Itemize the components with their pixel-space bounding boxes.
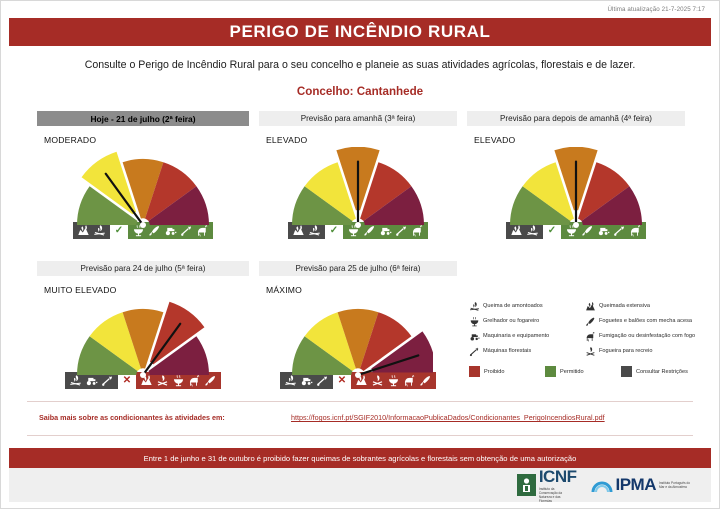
legend-item-fogueira-recreio-icon: Fogueira para recreio xyxy=(585,346,697,357)
icnf-mark-icon xyxy=(517,474,536,496)
legend-label: Queima de amontoados xyxy=(483,303,543,309)
gauge-wrap-tomorrow xyxy=(259,147,457,219)
footer-logos: ICNF Instituto da Conservação da Naturez… xyxy=(9,468,711,502)
danger-level-jul24: MUITO ELEVADO xyxy=(44,285,249,295)
forecast-panel-header-day-after[interactable]: Previsão para depois de amanhã (4ª feira… xyxy=(467,111,685,126)
legend-status-2: Consultar Restrições xyxy=(621,366,697,377)
forecast-panel-header-today[interactable]: Hoje - 21 de julho (2ª feira) xyxy=(37,111,249,126)
legend-item-queima-amontoados-icon: Queima de amontoados xyxy=(469,301,581,312)
legend-status-0: Proibido xyxy=(469,366,545,377)
queimada-extensiva-icon xyxy=(585,301,596,312)
legend-item-queimada-extensiva-icon: Queimada extensiva xyxy=(585,301,697,312)
forecast-panel-day-after[interactable]: Previsão para depois de amanhã (4ª feira… xyxy=(467,111,685,239)
maquinaria-icon xyxy=(469,331,480,342)
danger-level-day-after: ELEVADO xyxy=(474,135,685,145)
forecast-panel-header-jul24[interactable]: Previsão para 24 de julho (5ª feira) xyxy=(37,261,249,276)
legend-label: Queimada extensiva xyxy=(599,303,650,309)
fire-danger-page: Última atualização 21-7-2025 7:17 PERIGO… xyxy=(0,0,720,509)
danger-gauge xyxy=(283,147,433,231)
danger-gauge xyxy=(501,147,651,231)
forecast-panel-header-tomorrow[interactable]: Previsão para amanhã (3ª feira) xyxy=(259,111,457,126)
gauge-wrap-day-after xyxy=(467,147,685,219)
danger-level-jul25: MÁXIMO xyxy=(266,285,457,295)
ipma-arc-icon xyxy=(591,475,613,495)
seasonal-notice: Entre 1 de junho e 31 de outubro é proib… xyxy=(9,448,711,468)
gauge-wrap-jul24 xyxy=(37,297,249,369)
legend-status-label: Permitido xyxy=(560,369,584,375)
legend-item-foguetes-icon: Foguetes e balões com mecha acesa xyxy=(585,316,697,327)
ipma-logo: IPMA Instituto Português do Mar e da Atm… xyxy=(591,475,694,495)
legend-status-1: Permitido xyxy=(545,366,621,377)
status-swatch-icon xyxy=(621,366,632,377)
danger-level-today: MODERADO xyxy=(44,135,249,145)
page-title: PERIGO DE INCÊNDIO RURAL xyxy=(230,22,491,42)
forecast-panel-header-jul25[interactable]: Previsão para 25 de julho (6ª feira) xyxy=(259,261,457,276)
legend: Queima de amontoadosQueimada extensivaGr… xyxy=(469,301,697,377)
legend-label: Fumigação ou desinfestação com fogo xyxy=(599,333,695,339)
legend-activities: Queima de amontoadosQueimada extensivaGr… xyxy=(469,301,697,357)
grelhador-icon xyxy=(469,316,480,327)
danger-gauge xyxy=(283,297,433,381)
queima-amontoados-icon xyxy=(469,301,480,312)
danger-level-tomorrow: ELEVADO xyxy=(266,135,457,145)
forecast-panel-jul24[interactable]: Previsão para 24 de julho (5ª feira)MUIT… xyxy=(37,261,249,389)
gauge-hub xyxy=(355,372,361,378)
legend-label: Grelhador ou fogareiro xyxy=(483,318,539,324)
icnf-logo-text: ICNF xyxy=(539,467,577,487)
gauge-hub xyxy=(573,222,579,228)
gauge-wrap-today xyxy=(37,147,249,219)
legend-status-label: Proibido xyxy=(484,369,505,375)
more-info-label: Saiba mais sobre as condicionantes às at… xyxy=(39,413,225,422)
status-swatch-icon xyxy=(469,366,480,377)
foguetes-icon xyxy=(585,316,596,327)
forecast-panel-today[interactable]: Hoje - 21 de julho (2ª feira)MODERADO✓ xyxy=(37,111,249,239)
legend-label: Maquinaria e equipamento xyxy=(483,333,549,339)
fogueira-recreio-icon xyxy=(585,346,596,357)
gauge-hub xyxy=(355,222,361,228)
ipma-logo-text: IPMA xyxy=(616,475,657,495)
fumigacao-icon xyxy=(585,331,596,342)
gauge-hub xyxy=(140,222,146,228)
municipality-label: Concelho: Cantanhede xyxy=(1,85,719,98)
last-updated-label: Última atualização 21-7-2025 7:17 xyxy=(607,6,705,13)
more-info-link[interactable]: https://fogos.icnf.pt/SGIF2010/Informaca… xyxy=(291,413,605,422)
legend-label: Fogueira para recreio xyxy=(599,348,652,354)
legend-item-fumigacao-icon: Fumigação ou desinfestação com fogo xyxy=(585,331,697,342)
danger-gauge xyxy=(68,147,218,231)
maquinas-florestais-icon xyxy=(469,346,480,357)
gauge-hub xyxy=(140,372,146,378)
danger-gauge xyxy=(68,297,218,381)
legend-item-maquinaria-icon: Maquinaria e equipamento xyxy=(469,331,581,342)
divider-top xyxy=(27,401,693,402)
divider-bottom xyxy=(27,435,693,436)
status-swatch-icon xyxy=(545,366,556,377)
forecast-panel-tomorrow[interactable]: Previsão para amanhã (3ª feira)ELEVADO✓ xyxy=(259,111,457,239)
icnf-logo: ICNF Instituto da Conservação da Naturez… xyxy=(517,467,577,503)
legend-label: Foguetes e balões com mecha acesa xyxy=(599,318,692,324)
legend-label: Máquinas florestais xyxy=(483,348,531,354)
legend-status-label: Consultar Restrições xyxy=(636,369,688,375)
icnf-logo-subtitle: Instituto da Conservação da Natureza e d… xyxy=(539,487,573,503)
legend-item-grelhador-icon: Grelhador ou fogareiro xyxy=(469,316,581,327)
gauge-wrap-jul25 xyxy=(259,297,457,369)
legend-item-maquinas-florestais-icon: Máquinas florestais xyxy=(469,346,581,357)
ipma-logo-subtitle: Instituto Português do Mar e da Atmosfer… xyxy=(659,481,693,489)
page-title-bar: PERIGO DE INCÊNDIO RURAL xyxy=(9,18,711,46)
legend-statuses: ProibidoPermitidoConsultar Restrições xyxy=(469,366,697,377)
forecast-panel-jul25[interactable]: Previsão para 25 de julho (6ª feira)MÁXI… xyxy=(259,261,457,389)
intro-text: Consulte o Perigo de Incêndio Rural para… xyxy=(1,59,719,71)
